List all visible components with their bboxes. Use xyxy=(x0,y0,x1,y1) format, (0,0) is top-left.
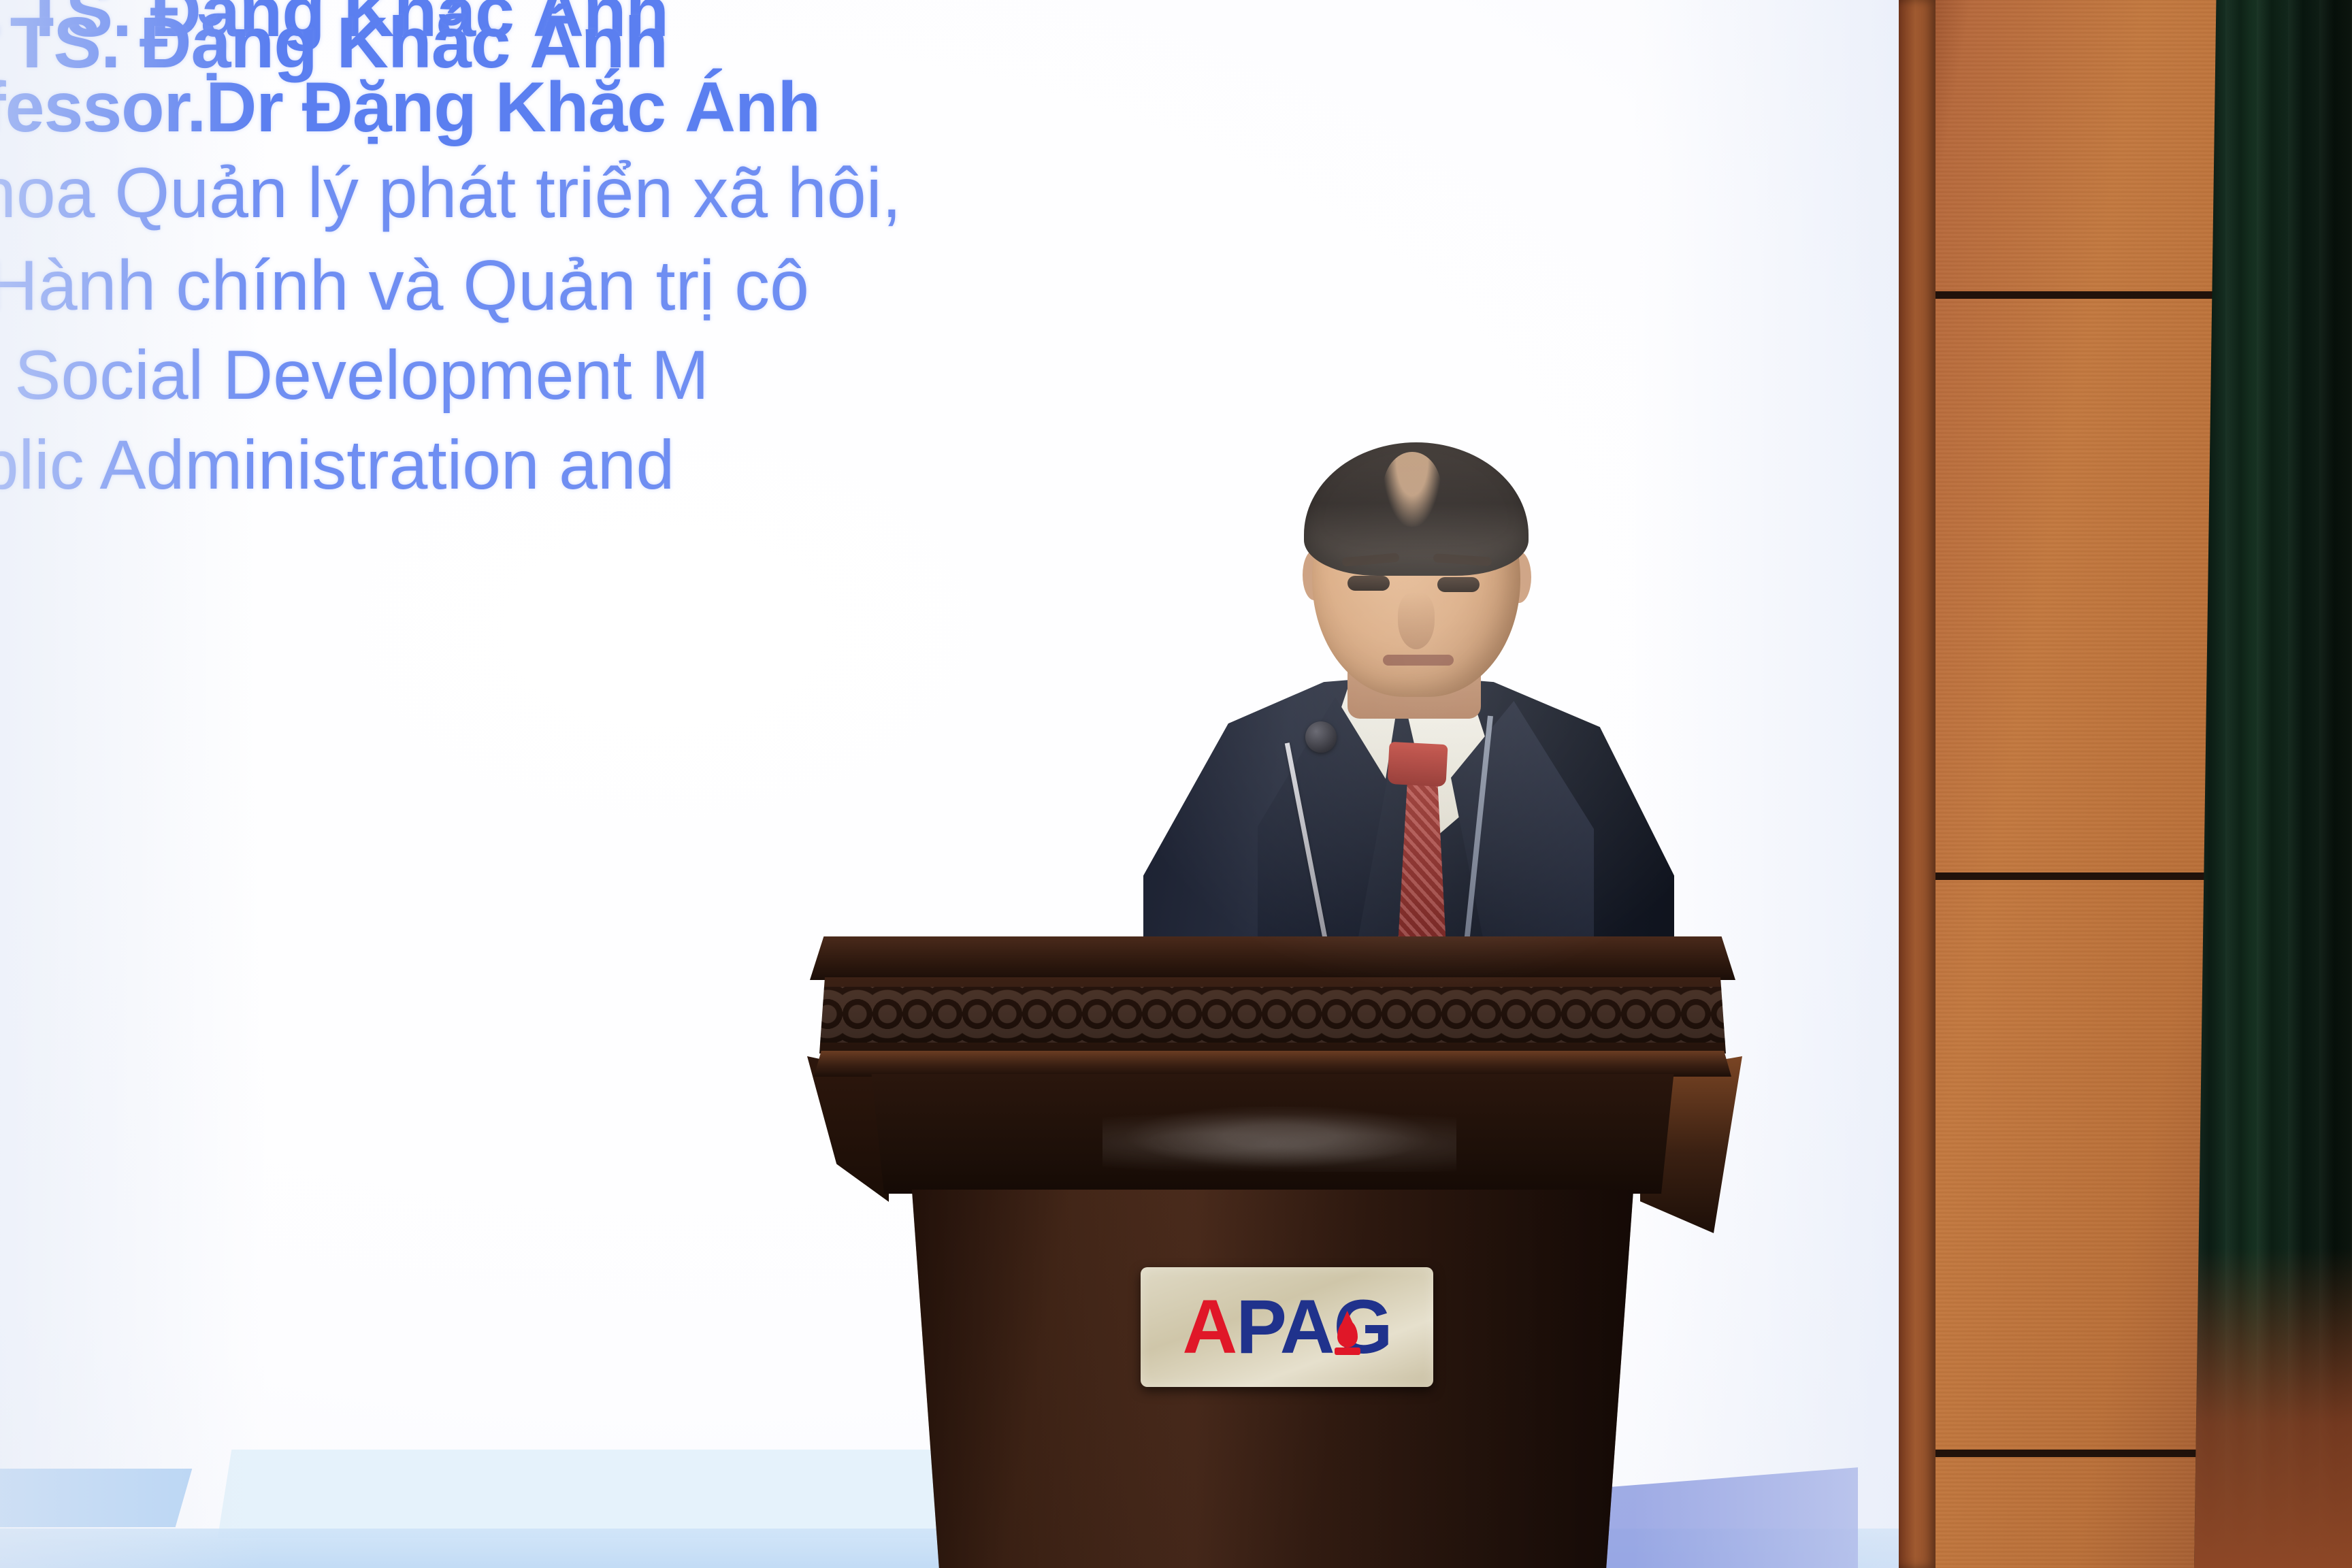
wood-groove xyxy=(1935,291,2238,299)
slide-line-name-english: rofessor.Dr Đặng Khắc Ánh xyxy=(0,72,820,143)
forehead-highlight xyxy=(1383,452,1441,527)
necktie-knot xyxy=(1387,742,1448,787)
curtain-lower-glow xyxy=(2194,1248,2352,1568)
slide-decor-bar-left xyxy=(0,1469,192,1527)
podium-desktop xyxy=(810,936,1735,980)
podium-rail xyxy=(814,1051,1731,1077)
slide-line-faculty-vietnamese: khoa Quản lý phát triển xã hôi, xyxy=(0,158,902,229)
slide-line-faculty-english: of Social Development M xyxy=(0,340,709,410)
slide-line-academy-vietnamese: n Hành chính và Quản trị cô xyxy=(0,250,809,321)
stage-curtain xyxy=(2194,0,2352,1568)
photo-frame: GS. TS. Đặng Khắc Ánh S. TS. Đặng Khắc Á… xyxy=(0,0,2352,1568)
nose xyxy=(1398,592,1435,649)
acanthus-carving xyxy=(1102,1107,1456,1172)
podium: APAG xyxy=(810,936,1735,1568)
slide-line-academy-english: ublic Administration and xyxy=(0,430,674,500)
wood-groove xyxy=(1935,1450,2238,1457)
mouth xyxy=(1383,655,1454,666)
eye-right xyxy=(1437,577,1480,592)
wood-groove xyxy=(1935,872,2238,880)
speaker-person xyxy=(1143,436,1674,1021)
apag-letter-a: A xyxy=(1182,1284,1236,1369)
podium-bead-molding xyxy=(819,977,1726,1053)
apag-logo-plate: APAG xyxy=(1141,1267,1433,1387)
wood-wall-edge xyxy=(1899,0,1935,1568)
eye-left xyxy=(1347,576,1390,591)
bead-and-reel-pattern xyxy=(819,987,1726,1043)
apag-letters-pag: PAG xyxy=(1236,1284,1391,1369)
apag-wordmark: APAG xyxy=(1182,1289,1391,1365)
microphone-head xyxy=(1305,721,1337,753)
